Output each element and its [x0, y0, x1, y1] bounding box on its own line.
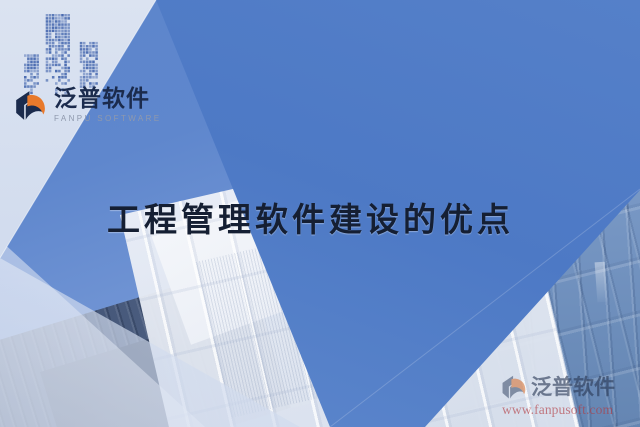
fanpu-logo-icon	[500, 374, 527, 401]
glass-reflection-3	[400, 309, 419, 345]
watermark-name-cn: 泛普软件	[531, 377, 615, 398]
dot-matrix-skyline-icon	[24, 14, 116, 96]
watermark: 泛普软件 www.fanpusoft.com	[500, 374, 640, 418]
glass-reflection-2	[595, 262, 608, 303]
dark-building-mullions	[0, 264, 291, 427]
fanpu-logo-icon	[13, 89, 47, 123]
page-title: 工程管理软件建设的优点	[107, 193, 514, 241]
watermark-url: www.fanpusoft.com	[502, 402, 640, 418]
brand-name-en: FANPU SOFTWARE	[54, 115, 162, 123]
white-facade-louvres	[196, 241, 322, 418]
low-building-block	[0, 326, 310, 427]
low-building-mullions	[0, 326, 310, 427]
brand-name-cn: 泛普软件	[54, 88, 162, 111]
dark-building-block	[0, 264, 291, 427]
dark-building-shadow-face	[40, 337, 193, 427]
watermark-logo-row: 泛普软件	[500, 374, 640, 401]
promo-banner: 泛普软件 FANPU SOFTWARE 工程管理软件建设的优点 泛普软件 www…	[0, 0, 640, 427]
glass-reflection-1	[445, 235, 472, 293]
brand-logo: 泛普软件 FANPU SOFTWARE	[13, 88, 162, 123]
brand-text: 泛普软件 FANPU SOFTWARE	[54, 88, 162, 123]
